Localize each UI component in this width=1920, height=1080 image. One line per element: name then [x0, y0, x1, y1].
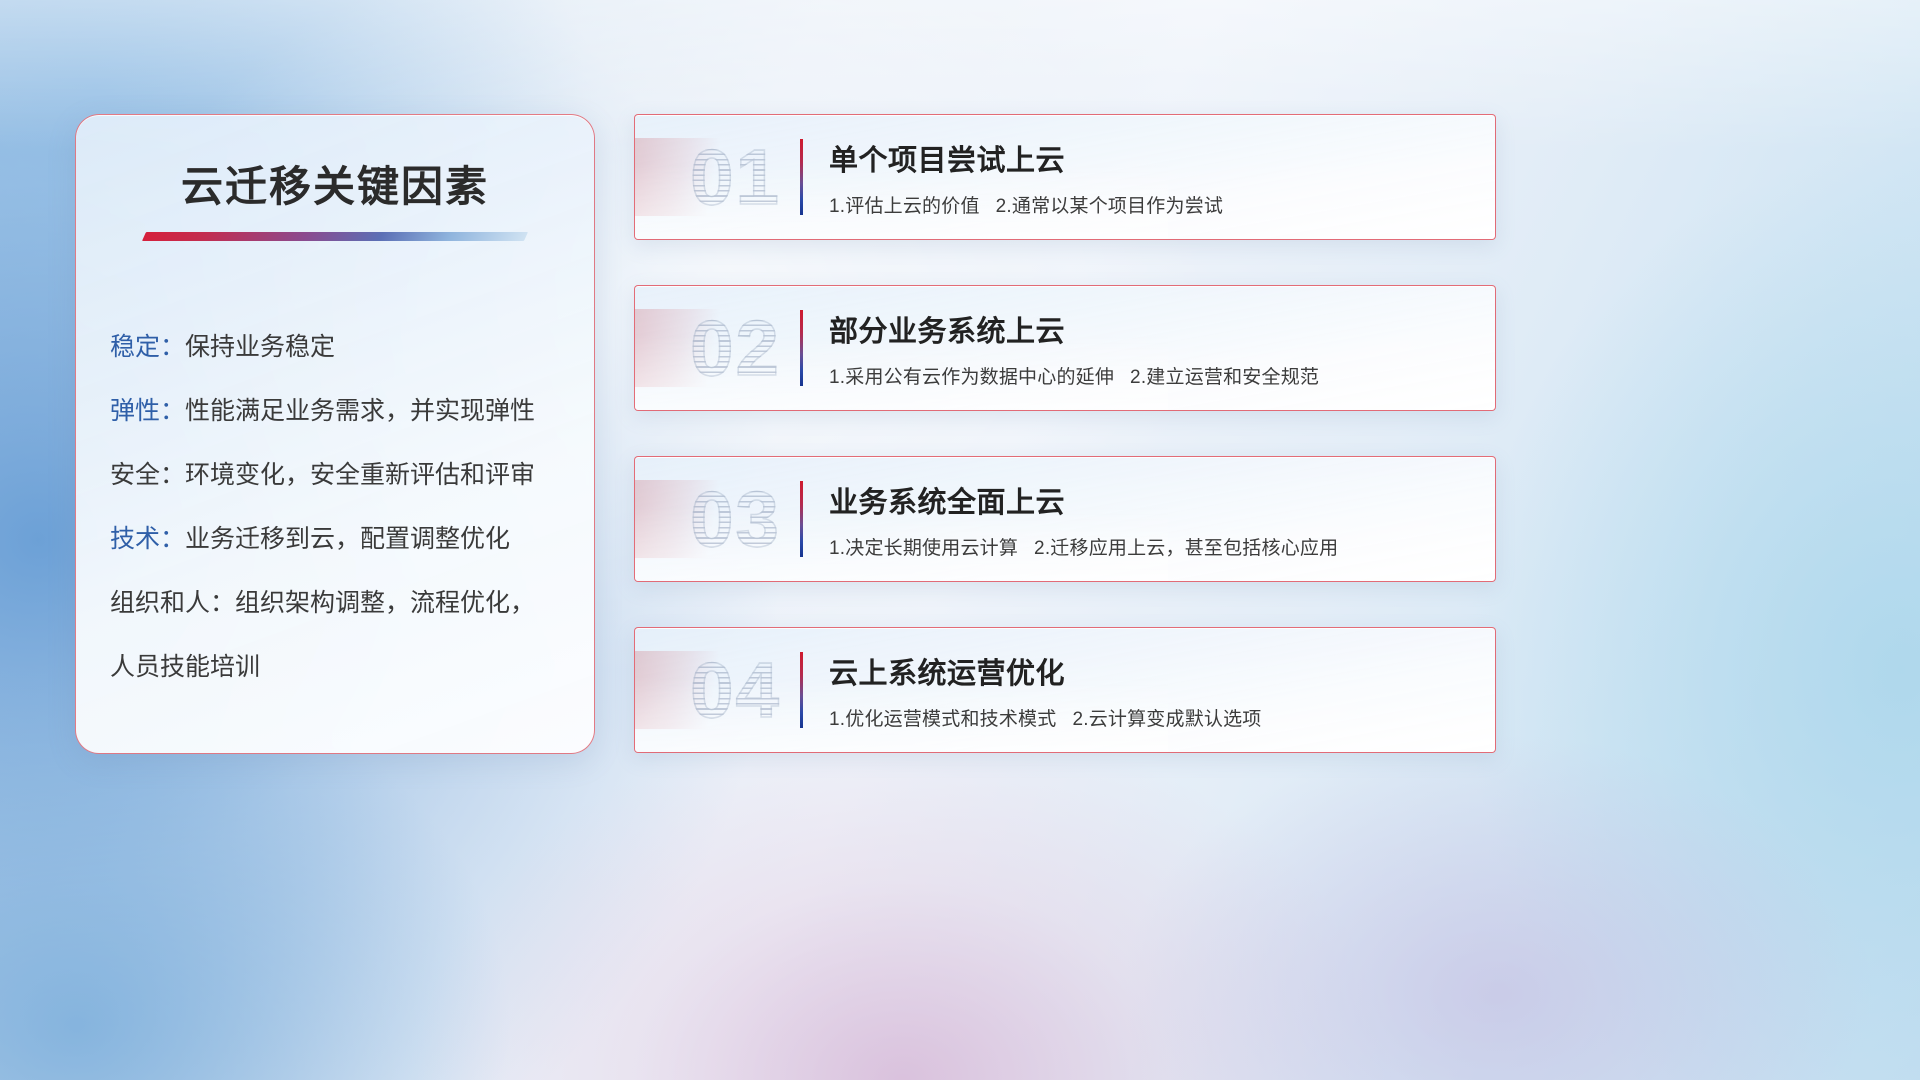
- list-item: 稳定：保持业务稳定: [110, 315, 594, 379]
- stage-number: 01: [653, 138, 818, 216]
- stage-divider-bar: [800, 139, 803, 215]
- fact-label: 组织和人：: [110, 589, 235, 617]
- stage-point-2: 2.云计算变成默认选项: [1072, 709, 1261, 730]
- stage-point-1: 1.优化运营模式和技术模式: [829, 709, 1056, 730]
- stage-description: 1.决定长期使用云计算2.迁移应用上云，甚至包括核心应用: [829, 533, 1495, 560]
- stage-point-2: 2.建立运营和安全规范: [1130, 367, 1319, 388]
- list-item: 弹性：性能满足业务需求，并实现弹性: [110, 379, 594, 443]
- fact-label: 技术：: [110, 525, 185, 553]
- fact-value: 保持业务稳定: [185, 333, 335, 361]
- fact-value: 业务迁移到云，配置调整优化: [185, 525, 510, 553]
- stage-card-02[interactable]: 02 部分业务系统上云 1.采用公有云作为数据中心的延伸2.建立运营和安全规范: [634, 285, 1496, 411]
- fact-value: 组织架构调整，流程优化，: [235, 589, 535, 617]
- list-item: 组织和人：组织架构调整，流程优化，: [110, 571, 594, 635]
- stage-body: 云上系统运营优化 1.优化运营模式和技术模式2.云计算变成默认选项: [829, 650, 1495, 731]
- stage-number: 02: [653, 309, 818, 387]
- fact-value: 人员技能培训: [110, 653, 260, 681]
- stage-body: 业务系统全面上云 1.决定长期使用云计算2.迁移应用上云，甚至包括核心应用: [829, 479, 1495, 560]
- stage-card-01[interactable]: 01 单个项目尝试上云 1.评估上云的价值2.通常以某个项目作为尝试: [634, 114, 1496, 240]
- stage-number-wrap: 03: [635, 480, 800, 558]
- stage-divider-bar: [800, 652, 803, 728]
- stage-number-wrap: 04: [635, 651, 800, 729]
- key-factors-list: 稳定：保持业务稳定 弹性：性能满足业务需求，并实现弹性 安全：环境变化，安全重新…: [110, 315, 594, 699]
- stage-number-wrap: 01: [635, 138, 800, 216]
- fact-label: 弹性：: [110, 397, 185, 425]
- panel-title: 云迁移关键因素: [76, 153, 594, 214]
- stage-divider-bar: [800, 481, 803, 557]
- stage-number: 03: [653, 480, 818, 558]
- stage-title: 单个项目尝试上云: [829, 137, 1495, 179]
- stage-point-1: 1.决定长期使用云计算: [829, 538, 1018, 559]
- list-item: 安全：环境变化，安全重新评估和评审: [110, 443, 594, 507]
- stage-description: 1.评估上云的价值2.通常以某个项目作为尝试: [829, 191, 1495, 218]
- stage-card-03[interactable]: 03 业务系统全面上云 1.决定长期使用云计算2.迁移应用上云，甚至包括核心应用: [634, 456, 1496, 582]
- fact-label: 安全：: [110, 461, 185, 489]
- stage-point-2: 2.通常以某个项目作为尝试: [996, 196, 1223, 217]
- stage-point-1: 1.评估上云的价值: [829, 196, 980, 217]
- stage-body: 单个项目尝试上云 1.评估上云的价值2.通常以某个项目作为尝试: [829, 137, 1495, 218]
- list-item: 人员技能培训: [110, 635, 594, 699]
- stage-title: 部分业务系统上云: [829, 308, 1495, 350]
- title-underline-bar: [142, 232, 528, 241]
- stage-number-wrap: 02: [635, 309, 800, 387]
- stage-body: 部分业务系统上云 1.采用公有云作为数据中心的延伸2.建立运营和安全规范: [829, 308, 1495, 389]
- stage-card-04[interactable]: 04 云上系统运营优化 1.优化运营模式和技术模式2.云计算变成默认选项: [634, 627, 1496, 753]
- stage-point-2: 2.迁移应用上云，甚至包括核心应用: [1034, 538, 1338, 559]
- stage-title: 云上系统运营优化: [829, 650, 1495, 692]
- stage-description: 1.优化运营模式和技术模式2.云计算变成默认选项: [829, 704, 1495, 731]
- stage-point-1: 1.采用公有云作为数据中心的延伸: [829, 367, 1114, 388]
- stage-description: 1.采用公有云作为数据中心的延伸2.建立运营和安全规范: [829, 362, 1495, 389]
- stage-divider-bar: [800, 310, 803, 386]
- fact-label: 稳定：: [110, 333, 185, 361]
- stages-list: 01 单个项目尝试上云 1.评估上云的价值2.通常以某个项目作为尝试 02 部分…: [634, 114, 1496, 798]
- stage-number: 04: [653, 651, 818, 729]
- fact-value: 性能满足业务需求，并实现弹性: [185, 397, 535, 425]
- list-item: 技术：业务迁移到云，配置调整优化: [110, 507, 594, 571]
- fact-value: 环境变化，安全重新评估和评审: [185, 461, 535, 489]
- stage-title: 业务系统全面上云: [829, 479, 1495, 521]
- key-factors-panel: 云迁移关键因素 稳定：保持业务稳定 弹性：性能满足业务需求，并实现弹性 安全：环…: [75, 114, 595, 754]
